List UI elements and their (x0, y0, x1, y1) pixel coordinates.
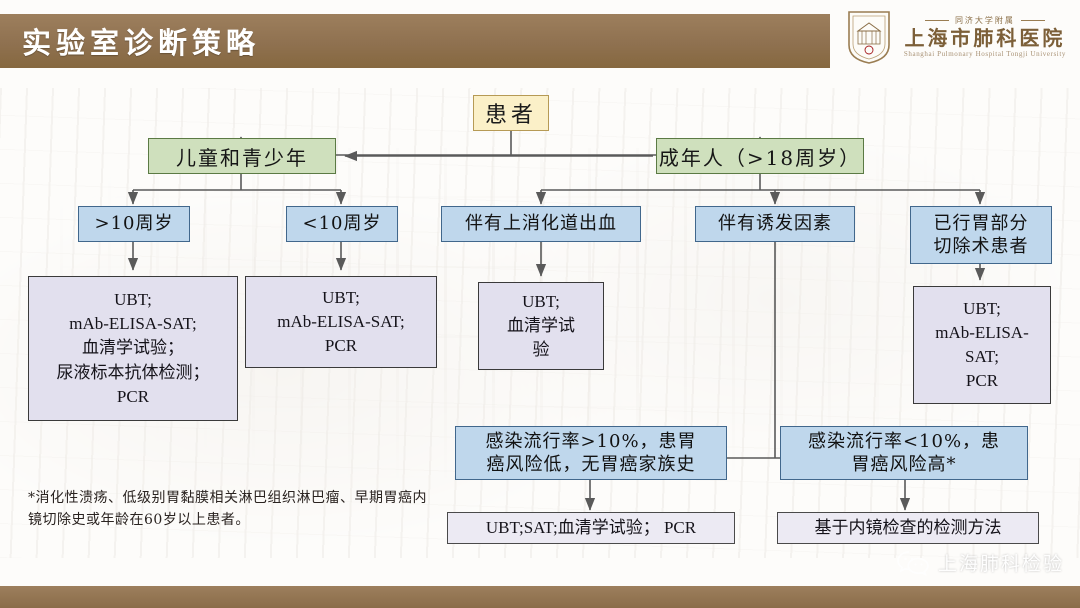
node-partial-gastrectomy-line2: 切除术患者 (911, 235, 1051, 258)
footnote: *消化性溃疡、低级别胃黏膜相关淋巴组织淋巴瘤、早期胃癌内镜切除史或年龄在60岁以… (28, 487, 438, 532)
wechat-watermark-text: 上海肺科检验 (938, 549, 1064, 576)
node-tests-gastrectomy-line1: UBT; (914, 297, 1050, 321)
node-adults[interactable]: 成年人（>18周岁） (656, 138, 864, 174)
node-tests-under-10-line1: UBT; (246, 286, 436, 310)
node-children-adolescents[interactable]: 儿童和青少年 (148, 138, 336, 174)
node-tests-over-10-line4: 尿液标本抗体检测； (29, 361, 237, 385)
node-adults-label: 成年人（>18周岁） (657, 142, 863, 171)
node-tests-under-10-line2: mAb-ELISA-SAT; (246, 310, 436, 334)
node-tests-under-10-line3: PCR (246, 334, 436, 358)
node-over-10-years[interactable]: >10周岁 (78, 206, 190, 242)
node-tests-over-10-line2: mAb-ELISA-SAT; (29, 312, 237, 336)
node-tests-prevalence-high[interactable]: UBT;SAT;血清学试验； PCR (447, 512, 735, 544)
node-tests-over-10-line1: UBT; (29, 288, 237, 312)
node-tests-prevalence-low-label: 基于内镜检查的检测方法 (778, 517, 1038, 539)
node-upper-gi-bleeding-label: 伴有上消化道出血 (442, 212, 640, 235)
node-tests-prevalence-low[interactable]: 基于内镜检查的检测方法 (777, 512, 1039, 544)
node-tests-gi-bleeding-line2: 血清学试 (479, 314, 603, 338)
node-upper-gi-bleeding[interactable]: 伴有上消化道出血 (441, 206, 641, 242)
node-tests-over-10-line3: 血清学试验； (29, 336, 237, 360)
node-prevalence-high-line2: 癌风险低，无胃癌家族史 (456, 453, 726, 476)
node-risk-factors-label: 伴有诱发因素 (696, 212, 854, 235)
node-tests-gastrectomy-line2: mAb-ELISA- (914, 321, 1050, 345)
node-tests-gi-bleeding-line1: UBT; (479, 290, 603, 314)
node-partial-gastrectomy[interactable]: 已行胃部分 切除术患者 (910, 206, 1052, 264)
node-under-10-years-label: <10周岁 (287, 212, 397, 235)
node-tests-over-10-line5: PCR (29, 385, 237, 409)
wechat-watermark: 上海肺科检验 (896, 549, 1064, 576)
node-prevalence-high[interactable]: 感染流行率>10%，患胃 癌风险低，无胃癌家族史 (455, 426, 727, 480)
slide: 实验室诊断策略 同济大学附属 上海市肺科医院 Shanghai Pulmonar… (0, 0, 1080, 608)
node-children-adolescents-label: 儿童和青少年 (149, 142, 335, 171)
node-tests-gastrectomy-line4: PCR (914, 369, 1050, 393)
node-partial-gastrectomy-line1: 已行胃部分 (911, 212, 1051, 235)
node-tests-over-10[interactable]: UBT; mAb-ELISA-SAT; 血清学试验； 尿液标本抗体检测； PCR (28, 276, 238, 421)
node-patient[interactable]: 患者 (473, 95, 549, 131)
node-under-10-years[interactable]: <10周岁 (286, 206, 398, 242)
node-tests-under-10[interactable]: UBT; mAb-ELISA-SAT; PCR (245, 276, 437, 368)
node-prevalence-low-line1: 感染流行率<10%，患 (781, 430, 1027, 453)
node-tests-gastrectomy-line3: SAT; (914, 345, 1050, 369)
node-patient-label: 患者 (474, 97, 548, 129)
node-tests-gastrectomy[interactable]: UBT; mAb-ELISA- SAT; PCR (913, 286, 1051, 404)
node-prevalence-low[interactable]: 感染流行率<10%，患 胃癌风险高* (780, 426, 1028, 480)
node-prevalence-low-line2: 胃癌风险高* (781, 453, 1027, 476)
wechat-icon (896, 550, 930, 576)
node-risk-factors[interactable]: 伴有诱发因素 (695, 206, 855, 242)
node-tests-gi-bleeding[interactable]: UBT; 血清学试 验 (478, 282, 604, 370)
node-over-10-years-label: >10周岁 (79, 212, 189, 235)
bottom-bar (0, 586, 1080, 608)
node-tests-gi-bleeding-line3: 验 (479, 338, 603, 362)
node-tests-prevalence-high-label: UBT;SAT;血清学试验； PCR (448, 517, 734, 539)
node-prevalence-high-line1: 感染流行率>10%，患胃 (456, 430, 726, 453)
